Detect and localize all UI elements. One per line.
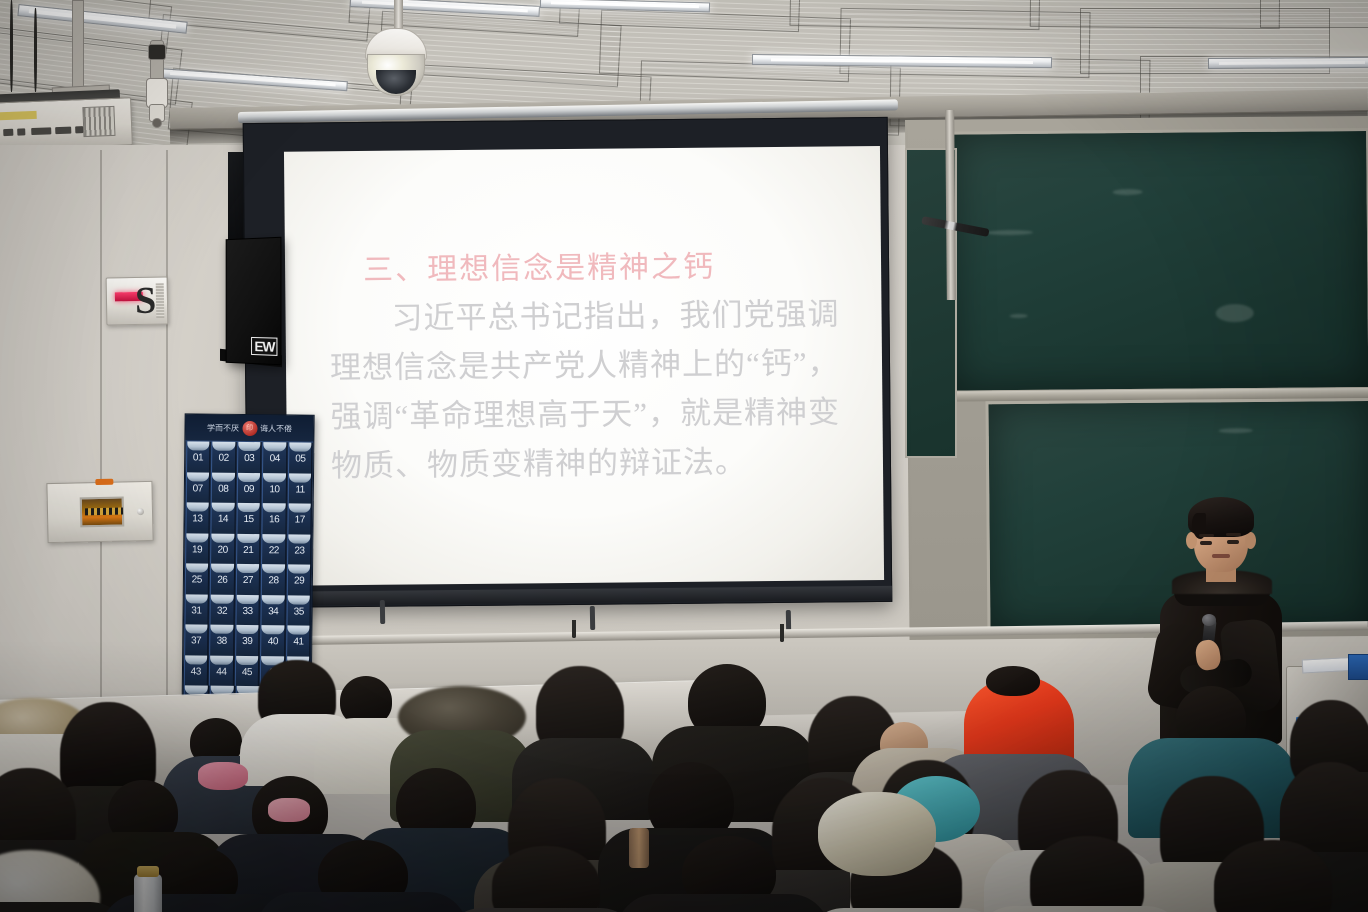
lecturer-ear xyxy=(1245,532,1256,549)
projection-screen-frame: 三、理想信念是精神之钙 习近平总书记指出，我们党强调理想信念是共产党人精神上的“… xyxy=(243,117,893,608)
organizer-header: 学而不厌 印 诲人不倦 xyxy=(185,414,313,442)
organizer-pocket-35[interactable]: 35 xyxy=(286,595,311,626)
pocket-lip xyxy=(263,503,286,512)
organizer-pocket-22[interactable]: 22 xyxy=(261,534,286,565)
organizer-pocket-26[interactable]: 26 xyxy=(210,564,235,595)
pocket-lip xyxy=(237,564,260,573)
wall-seam xyxy=(166,150,168,710)
pocket-number: 29 xyxy=(288,575,311,586)
projector-port xyxy=(55,127,71,135)
lecturer-eyebrow xyxy=(1199,534,1214,537)
pocket-lip xyxy=(185,624,208,633)
audience-member xyxy=(1166,840,1366,912)
pocket-number: 41 xyxy=(287,636,310,647)
breaker-latch-knob[interactable] xyxy=(137,508,144,515)
tray-hook xyxy=(572,620,576,638)
controller-vent xyxy=(156,284,165,318)
pocket-lip xyxy=(210,625,233,634)
audience-member xyxy=(452,846,632,912)
pocket-lip xyxy=(238,442,261,451)
audience-member xyxy=(266,840,456,912)
pocket-number: 11 xyxy=(289,484,312,495)
pocket-number: 32 xyxy=(211,605,234,616)
thermos-cap xyxy=(137,866,159,877)
pocket-lip xyxy=(288,564,311,573)
chalk-smudge xyxy=(1010,314,1028,318)
blackboard-assembly xyxy=(905,116,1368,640)
pocket-number: 19 xyxy=(186,544,209,555)
audience-member-accessory xyxy=(198,762,250,792)
organizer-seal-icon: 印 xyxy=(242,420,257,435)
pocket-lip xyxy=(211,533,234,542)
white-coat xyxy=(804,908,1004,912)
pocket-number: 09 xyxy=(238,483,261,494)
pocket-number: 27 xyxy=(237,575,260,586)
blackboard-slide-post xyxy=(945,110,956,300)
pocket-lip xyxy=(262,564,285,573)
lecturer-eye xyxy=(1200,541,1212,545)
organizer-pocket-row: 0102030405 xyxy=(185,441,313,473)
thermos-bottle xyxy=(134,874,162,912)
pocket-lip xyxy=(237,533,260,542)
pocket-number: 07 xyxy=(186,483,209,494)
pocket-lip xyxy=(289,442,312,451)
organizer-pocket-row: 3132333435 xyxy=(183,594,311,626)
projector-cable xyxy=(34,8,37,92)
pocket-lip xyxy=(236,594,259,603)
organizer-pocket-05[interactable]: 05 xyxy=(288,442,313,473)
organizer-pocket-08[interactable]: 08 xyxy=(211,472,236,503)
pocket-lip xyxy=(186,502,209,511)
audience-member-accessory xyxy=(268,798,312,824)
pocket-number: 22 xyxy=(262,545,285,556)
pocket-lip xyxy=(263,534,286,543)
lecturer-hair xyxy=(1188,497,1254,537)
organizer-pocket-row: 1920212223 xyxy=(184,533,312,565)
pocket-number: 04 xyxy=(263,453,286,464)
wall-seam xyxy=(100,150,102,710)
organizer-pocket-32[interactable]: 32 xyxy=(210,594,235,625)
organizer-pocket-34[interactable]: 34 xyxy=(261,595,286,626)
organizer-pocket-21[interactable]: 21 xyxy=(236,533,261,564)
pink-hairclip xyxy=(268,798,310,822)
pocket-lip xyxy=(185,594,208,603)
lecturer-eye xyxy=(1227,540,1239,544)
organizer-motto-left: 学而不厌 xyxy=(207,422,239,433)
pocket-number: 13 xyxy=(186,513,209,524)
pocket-number: 15 xyxy=(237,514,260,525)
black-coat xyxy=(616,894,830,912)
breaker-label-tab xyxy=(95,479,113,485)
pocket-lip xyxy=(287,625,310,634)
pocket-number: 28 xyxy=(262,575,285,586)
breaker-switches[interactable] xyxy=(85,508,123,516)
pocket-number: 31 xyxy=(185,605,208,616)
pocket-number: 39 xyxy=(236,636,259,647)
pocket-lip xyxy=(263,473,286,482)
chalk-smudge xyxy=(1216,304,1254,322)
pocket-lip xyxy=(289,473,312,482)
controller-logo: S xyxy=(135,282,157,320)
projector-port xyxy=(31,127,51,135)
pocket-number: 38 xyxy=(210,636,233,647)
organizer-pocket-10[interactable]: 10 xyxy=(262,473,287,504)
organizer-pocket-28[interactable]: 28 xyxy=(261,564,286,595)
dark-coat xyxy=(442,908,640,912)
organizer-pocket-33[interactable]: 33 xyxy=(235,594,260,625)
pocket-lip xyxy=(264,442,287,451)
navy-jacket xyxy=(256,892,468,912)
slide-title: 三、理想信念是精神之钙 xyxy=(363,242,715,289)
pocket-lip xyxy=(238,472,261,481)
organizer-pocket-row: 0708091011 xyxy=(185,472,313,504)
organizer-pocket-31[interactable]: 31 xyxy=(184,594,209,625)
pocket-lip xyxy=(236,625,259,634)
pocket-lip xyxy=(212,442,235,451)
projector-port xyxy=(75,126,83,133)
pocket-number: 21 xyxy=(237,544,260,555)
organizer-pocket-15[interactable]: 15 xyxy=(236,503,261,534)
pocket-lip xyxy=(212,503,235,512)
organizer-pocket-25[interactable]: 25 xyxy=(184,563,209,594)
organizer-pocket-17[interactable]: 17 xyxy=(287,503,312,534)
cream-coat xyxy=(974,906,1186,912)
pocket-lip xyxy=(289,503,312,512)
pocket-lip xyxy=(211,594,234,603)
organizer-pocket-20[interactable]: 20 xyxy=(210,533,235,564)
pocket-lip xyxy=(211,564,234,573)
pocket-number: 14 xyxy=(212,514,235,525)
wall-control-unit[interactable]: S xyxy=(106,276,169,325)
organizer-pocket-19[interactable]: 19 xyxy=(185,533,210,564)
ceiling-light xyxy=(1208,57,1368,69)
organizer-pocket-07[interactable]: 07 xyxy=(185,472,210,503)
organizer-pocket-09[interactable]: 09 xyxy=(236,472,261,503)
organizer-pocket-29[interactable]: 29 xyxy=(287,564,312,595)
microphone-head xyxy=(1202,614,1216,626)
pocket-number: 40 xyxy=(262,636,285,647)
pink-scarf xyxy=(198,762,248,790)
pocket-number: 25 xyxy=(185,574,208,585)
ceiling-pendant-clamp xyxy=(148,44,166,60)
projector-port xyxy=(3,129,13,136)
breaker-window xyxy=(80,497,125,528)
pocket-lip xyxy=(288,595,311,604)
organizer-pocket-13[interactable]: 13 xyxy=(185,502,210,533)
pocket-number: 33 xyxy=(236,605,259,616)
organizer-pocket-14[interactable]: 14 xyxy=(211,503,236,534)
audience-member xyxy=(984,836,1174,912)
long-hair xyxy=(1214,840,1332,912)
pocket-number: 16 xyxy=(263,514,286,525)
long-hair xyxy=(492,846,600,912)
pocket-lip xyxy=(186,472,209,481)
projector-mount-pole xyxy=(72,0,84,96)
pocket-number: 34 xyxy=(262,606,285,617)
organizer-motto-right: 诲人不倦 xyxy=(260,423,292,434)
lecturer-mouth xyxy=(1212,554,1230,558)
projector-vent xyxy=(82,106,115,137)
pocket-number: 37 xyxy=(185,635,208,646)
pocket-number: 02 xyxy=(212,453,235,464)
pocket-lip xyxy=(262,625,285,634)
projector-cable xyxy=(10,0,13,92)
wall-speaker: EW xyxy=(226,237,282,366)
ceiling-pendant-nozzle xyxy=(152,118,162,128)
pocket-number: 01 xyxy=(187,452,210,463)
pocket-number: 26 xyxy=(211,575,234,586)
water-bottle xyxy=(629,828,649,868)
classroom-photo: 三、理想信念是精神之钙 习近平总书记指出，我们党强调理想信念是共产党人精神上的“… xyxy=(0,0,1368,912)
organizer-pocket-04[interactable]: 04 xyxy=(262,442,287,473)
organizer-pocket-11[interactable]: 11 xyxy=(288,473,313,504)
head xyxy=(986,666,1040,696)
organizer-pocket-03[interactable]: 03 xyxy=(237,442,262,473)
projector-port xyxy=(17,128,25,135)
chalk-smudge xyxy=(1219,428,1253,433)
pocket-lip xyxy=(186,563,209,572)
blackboard-upper-panel xyxy=(949,128,1368,394)
pocket-number: 03 xyxy=(238,453,261,464)
organizer-pocket-01[interactable]: 01 xyxy=(186,441,211,472)
organizer-pocket-row: 2526272829 xyxy=(184,563,312,595)
chalk-smudge xyxy=(1113,189,1143,195)
organizer-pocket-02[interactable]: 02 xyxy=(211,442,236,473)
pocket-number: 23 xyxy=(288,545,311,556)
pocket-number: 08 xyxy=(212,483,235,494)
ceiling-projector xyxy=(0,97,133,151)
slide-body-text: 习近平总书记指出，我们党强调理想信念是共产党人精神上的“钙”，强调“革命理想高于… xyxy=(329,289,849,490)
speaker-brand-logo: EW xyxy=(251,337,277,356)
tray-hook xyxy=(780,624,784,642)
projection-screen-canvas: 三、理想信念是精神之钙 习近平总书记指出，我们党强调理想信念是共产党人精神上的“… xyxy=(284,146,884,586)
organizer-pocket-16[interactable]: 16 xyxy=(262,503,287,534)
screen-bracket xyxy=(590,606,595,630)
organizer-pocket-27[interactable]: 27 xyxy=(235,564,260,595)
organizer-pocket-row: 1314151617 xyxy=(184,502,312,534)
audience-member xyxy=(628,836,818,912)
pocket-lip xyxy=(186,533,209,542)
screen-bracket xyxy=(380,600,385,624)
lecturer-eyebrow xyxy=(1226,533,1241,536)
student-audience xyxy=(0,650,1368,912)
pocket-lip xyxy=(237,503,260,512)
pocket-number: 17 xyxy=(288,514,311,525)
pocket-number: 05 xyxy=(289,453,312,464)
chalk-smudge xyxy=(987,230,1033,235)
pocket-lip xyxy=(262,595,285,604)
gold-puffer xyxy=(818,792,936,876)
pocket-number: 35 xyxy=(287,606,310,617)
audience-member-accessory xyxy=(818,792,938,878)
audience-member xyxy=(528,666,638,776)
electrical-breaker-box[interactable] xyxy=(46,481,153,543)
pocket-lip xyxy=(288,534,311,543)
long-hair xyxy=(1030,836,1144,912)
pocket-number: 10 xyxy=(263,484,286,495)
pocket-lip xyxy=(187,441,210,450)
projector-label xyxy=(0,111,37,121)
organizer-pocket-23[interactable]: 23 xyxy=(287,534,312,565)
pocket-number: 20 xyxy=(211,544,234,555)
pocket-lip xyxy=(212,472,235,481)
